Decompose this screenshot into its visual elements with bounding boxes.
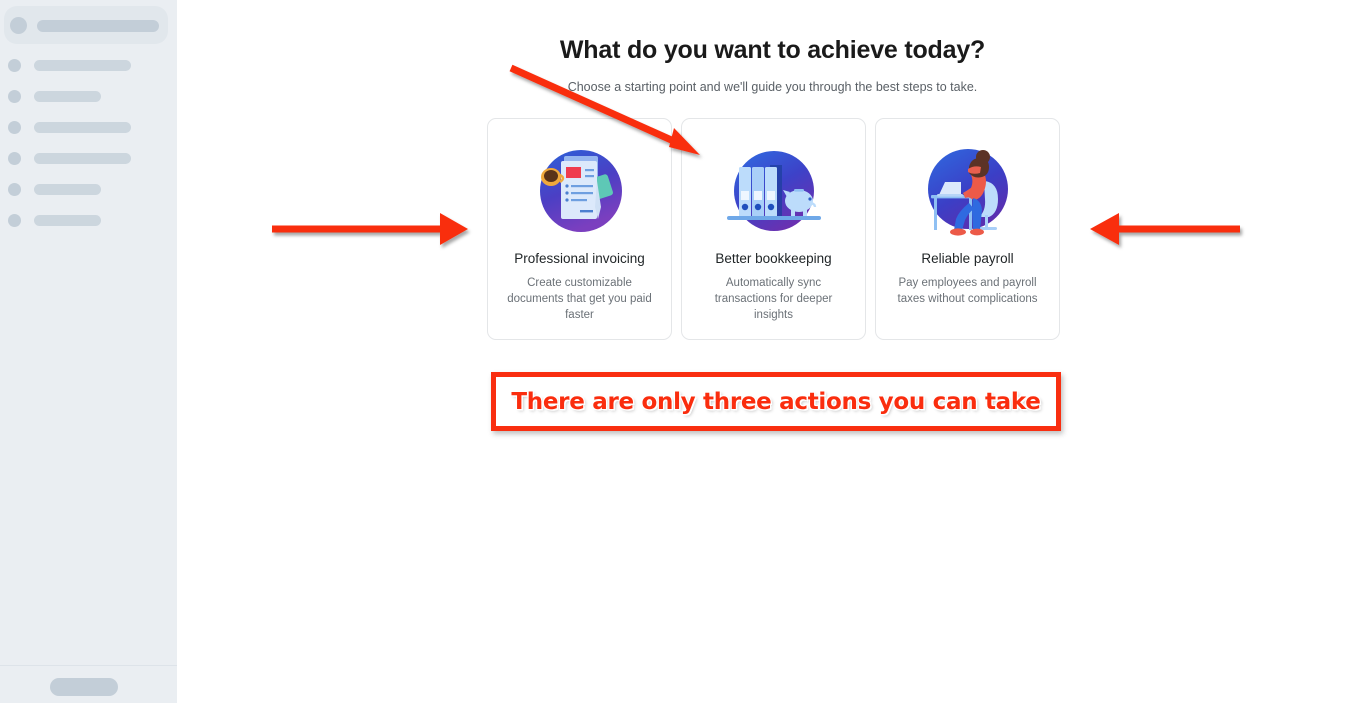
- sidebar-item-skeleton-3[interactable]: [0, 83, 177, 109]
- label-skeleton: [34, 215, 101, 226]
- sidebar-item-skeleton-1[interactable]: [4, 6, 168, 44]
- label-skeleton: [34, 60, 131, 71]
- app-root: What do you want to achieve today? Choos…: [0, 0, 1368, 703]
- sidebar-item-skeleton-2[interactable]: [0, 52, 177, 78]
- avatar-skeleton-icon: [10, 17, 27, 34]
- card-description: Automatically sync transactions for deep…: [682, 275, 865, 323]
- action-card-better-bookkeeping[interactable]: Better bookkeeping Automatically sync tr…: [681, 118, 866, 340]
- card-title: Professional invoicing: [514, 251, 645, 266]
- avatar-skeleton-icon: [8, 152, 21, 165]
- invoice-document-illustration: [525, 141, 635, 241]
- person-at-desk-illustration: [913, 141, 1023, 241]
- label-skeleton: [34, 153, 131, 164]
- label-skeleton: [34, 91, 101, 102]
- page-subtitle: Choose a starting point and we'll guide …: [177, 80, 1368, 94]
- card-title: Reliable payroll: [921, 251, 1013, 266]
- avatar-skeleton-icon: [8, 90, 21, 103]
- label-skeleton: [34, 122, 131, 133]
- avatar-skeleton-icon: [8, 183, 21, 196]
- sidebar-item-skeleton-4[interactable]: [0, 114, 177, 140]
- card-description: Create customizable documents that get y…: [488, 275, 671, 323]
- sidebar-item-skeleton-7[interactable]: [0, 207, 177, 233]
- card-description: Pay employees and payroll taxes without …: [876, 275, 1059, 307]
- sidebar-footer-button-skeleton[interactable]: [50, 678, 118, 696]
- label-skeleton: [37, 20, 159, 32]
- avatar-skeleton-icon: [8, 214, 21, 227]
- avatar-skeleton-icon: [8, 59, 21, 72]
- action-card-professional-invoicing[interactable]: Professional invoicing Create customizab…: [487, 118, 672, 340]
- sidebar: [0, 0, 177, 703]
- binders-piggybank-illustration: [719, 141, 829, 241]
- page-title: What do you want to achieve today?: [177, 36, 1368, 65]
- sidebar-item-skeleton-6[interactable]: [0, 176, 177, 202]
- action-card-list: Professional invoicing Create customizab…: [487, 118, 1061, 340]
- card-title: Better bookkeeping: [715, 251, 831, 266]
- sidebar-divider: [0, 665, 177, 666]
- main-content: What do you want to achieve today? Choos…: [177, 0, 1368, 703]
- avatar-skeleton-icon: [8, 121, 21, 134]
- label-skeleton: [34, 184, 101, 195]
- action-card-reliable-payroll[interactable]: Reliable payroll Pay employees and payro…: [875, 118, 1060, 340]
- sidebar-item-skeleton-5[interactable]: [0, 145, 177, 171]
